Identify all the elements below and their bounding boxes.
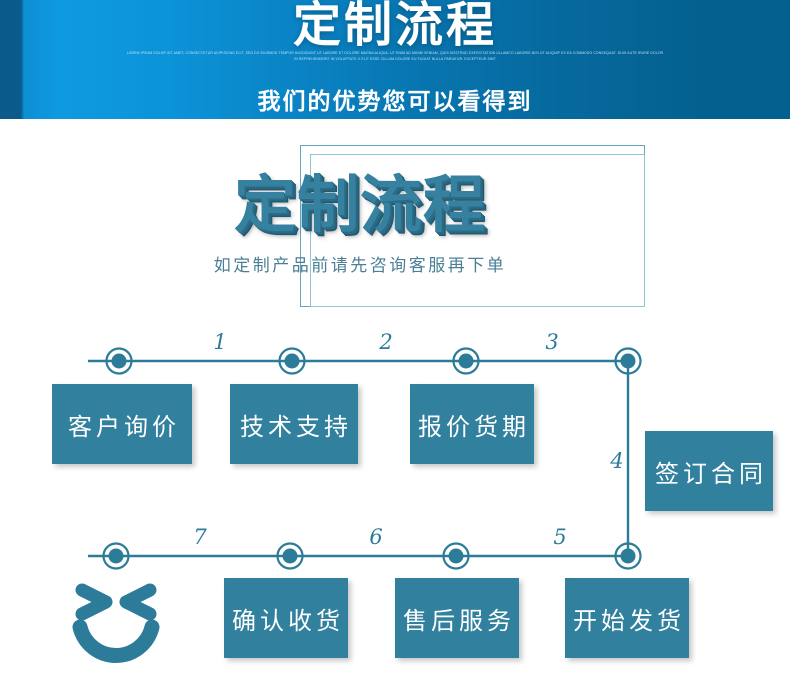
step-box-confirm-receipt[interactable]: 确认收货 <box>224 578 348 658</box>
step-number-2: 2 <box>371 330 401 354</box>
step-number-6: 6 <box>361 525 391 549</box>
step-box-sign-contract[interactable]: 签订合同 <box>645 431 773 511</box>
banner-title: 定制流程 <box>0 0 790 54</box>
step-number-1: 1 <box>205 330 235 354</box>
step-box-start-shipping[interactable]: 开始发货 <box>565 578 689 658</box>
page-subtitle: 如定制产品前请先咨询客服再下单 <box>150 251 570 276</box>
page-title: 定制流程 <box>150 165 570 245</box>
customization-flow-page: 定制流程 LOREM IPSUM DOLOR SIT AMET, CONSECT… <box>0 0 790 681</box>
banner-lorem-text: LOREM IPSUM DOLOR SIT AMET, CONSECTETUR … <box>125 50 665 63</box>
step-number-4: 4 <box>602 449 632 473</box>
step-number-7: 7 <box>185 525 215 549</box>
step-box-customer-inquiry[interactable]: 客户询价 <box>52 384 192 464</box>
step-number-3: 3 <box>537 330 567 354</box>
header-banner: 定制流程 LOREM IPSUM DOLOR SIT AMET, CONSECT… <box>0 0 790 119</box>
smiley-face-icon <box>68 572 164 666</box>
banner-subtitle: 我们的优势您可以看得到 <box>0 82 790 116</box>
step-box-quotation-leadtime[interactable]: 报价货期 <box>410 384 534 464</box>
step-number-5: 5 <box>545 525 575 549</box>
step-box-after-sales-service[interactable]: 售后服务 <box>395 578 519 658</box>
step-box-technical-support[interactable]: 技术支持 <box>230 384 358 464</box>
